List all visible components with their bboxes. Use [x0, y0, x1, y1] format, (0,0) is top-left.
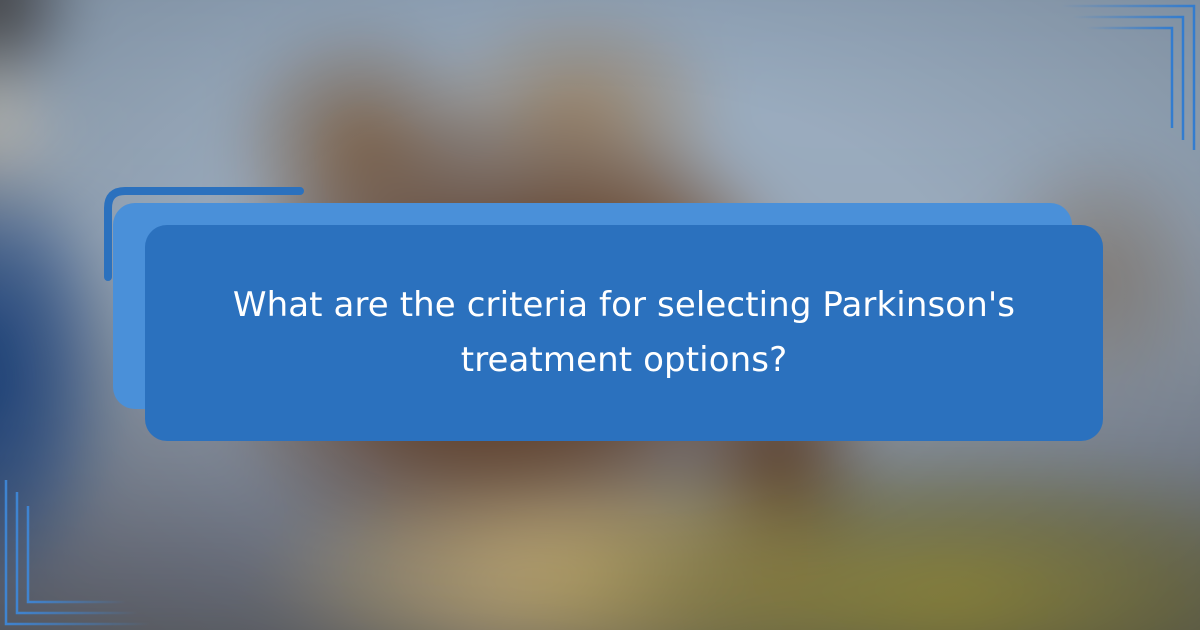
question-text: What are the criteria for selecting Park… — [145, 278, 1103, 388]
question-card[interactable]: What are the criteria for selecting Park… — [145, 225, 1103, 441]
poster-canvas: What are the criteria for selecting Park… — [0, 0, 1200, 630]
